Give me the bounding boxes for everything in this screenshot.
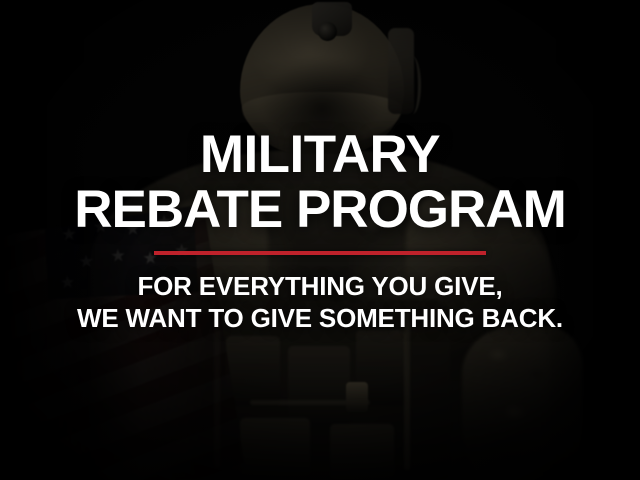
banner-content: MILITARY REBATE PROGRAM FOR EVERYTHING Y… <box>0 0 640 480</box>
military-rebate-banner: MILITARY REBATE PROGRAM FOR EVERYTHING Y… <box>0 0 640 480</box>
subheadline-line-2: WE WANT TO GIVE SOMETHING BACK. <box>77 303 563 335</box>
headline: MILITARY REBATE PROGRAM <box>74 128 565 237</box>
headline-line-1: MILITARY <box>200 125 440 184</box>
headline-line-2: REBATE PROGRAM <box>74 183 565 238</box>
subheadline: FOR EVERYTHING YOU GIVE, WE WANT TO GIVE… <box>77 271 563 334</box>
subheadline-line-1: FOR EVERYTHING YOU GIVE, <box>77 271 563 303</box>
red-divider-rule <box>154 251 486 255</box>
